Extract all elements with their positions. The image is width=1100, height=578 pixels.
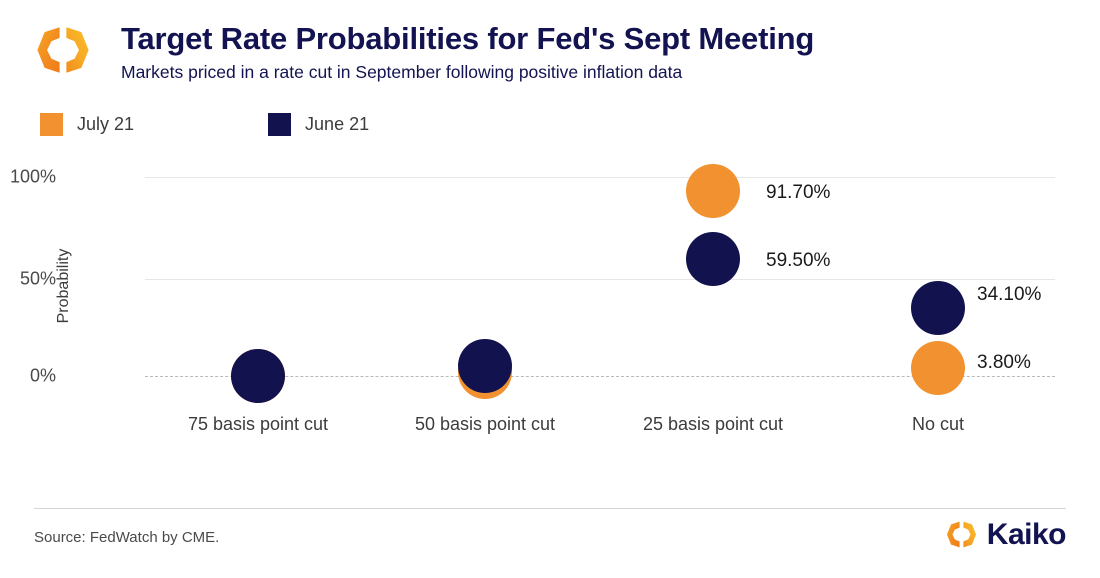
bubble-july-25bp[interactable] (686, 164, 740, 218)
ytick-50: 50% (20, 269, 56, 290)
source-note: Source: FedWatch by CME. (34, 529, 219, 546)
gridline-50 (145, 279, 1055, 280)
bubble-july-nocut[interactable] (911, 341, 965, 395)
bubble-june-50bp[interactable] (458, 339, 512, 393)
ytick-0: 0% (30, 366, 56, 387)
x-axis-label-nocut: No cut (912, 414, 964, 435)
value-label-june-25bp: 59.50% (766, 250, 830, 272)
footer-divider (34, 508, 1066, 509)
value-label-july-nocut: 3.80% (977, 352, 1031, 374)
chart-canvas: Target Rate Probabilities for Fed's Sept… (0, 0, 1100, 578)
footer-brand: Kaiko (945, 518, 1066, 551)
brand-name: Kaiko (987, 520, 1066, 550)
x-axis-label-50bp: 50 basis point cut (415, 414, 555, 435)
value-label-june-nocut: 34.10% (977, 284, 1041, 306)
ytick-100: 100% (10, 167, 56, 188)
bubble-june-75bp[interactable] (231, 349, 285, 403)
plot-area: 100% 50% 0% Probability 91.70% 59.50% 34… (0, 0, 1100, 460)
kaiko-bracket-logo-icon (945, 518, 978, 551)
y-axis-title: Probability (55, 216, 73, 356)
gridline-100 (145, 177, 1055, 178)
bubble-june-nocut[interactable] (911, 281, 965, 335)
x-axis-label-75bp: 75 basis point cut (188, 414, 328, 435)
value-label-july-25bp: 91.70% (766, 182, 830, 204)
bubble-june-25bp[interactable] (686, 232, 740, 286)
x-axis-label-25bp: 25 basis point cut (643, 414, 783, 435)
